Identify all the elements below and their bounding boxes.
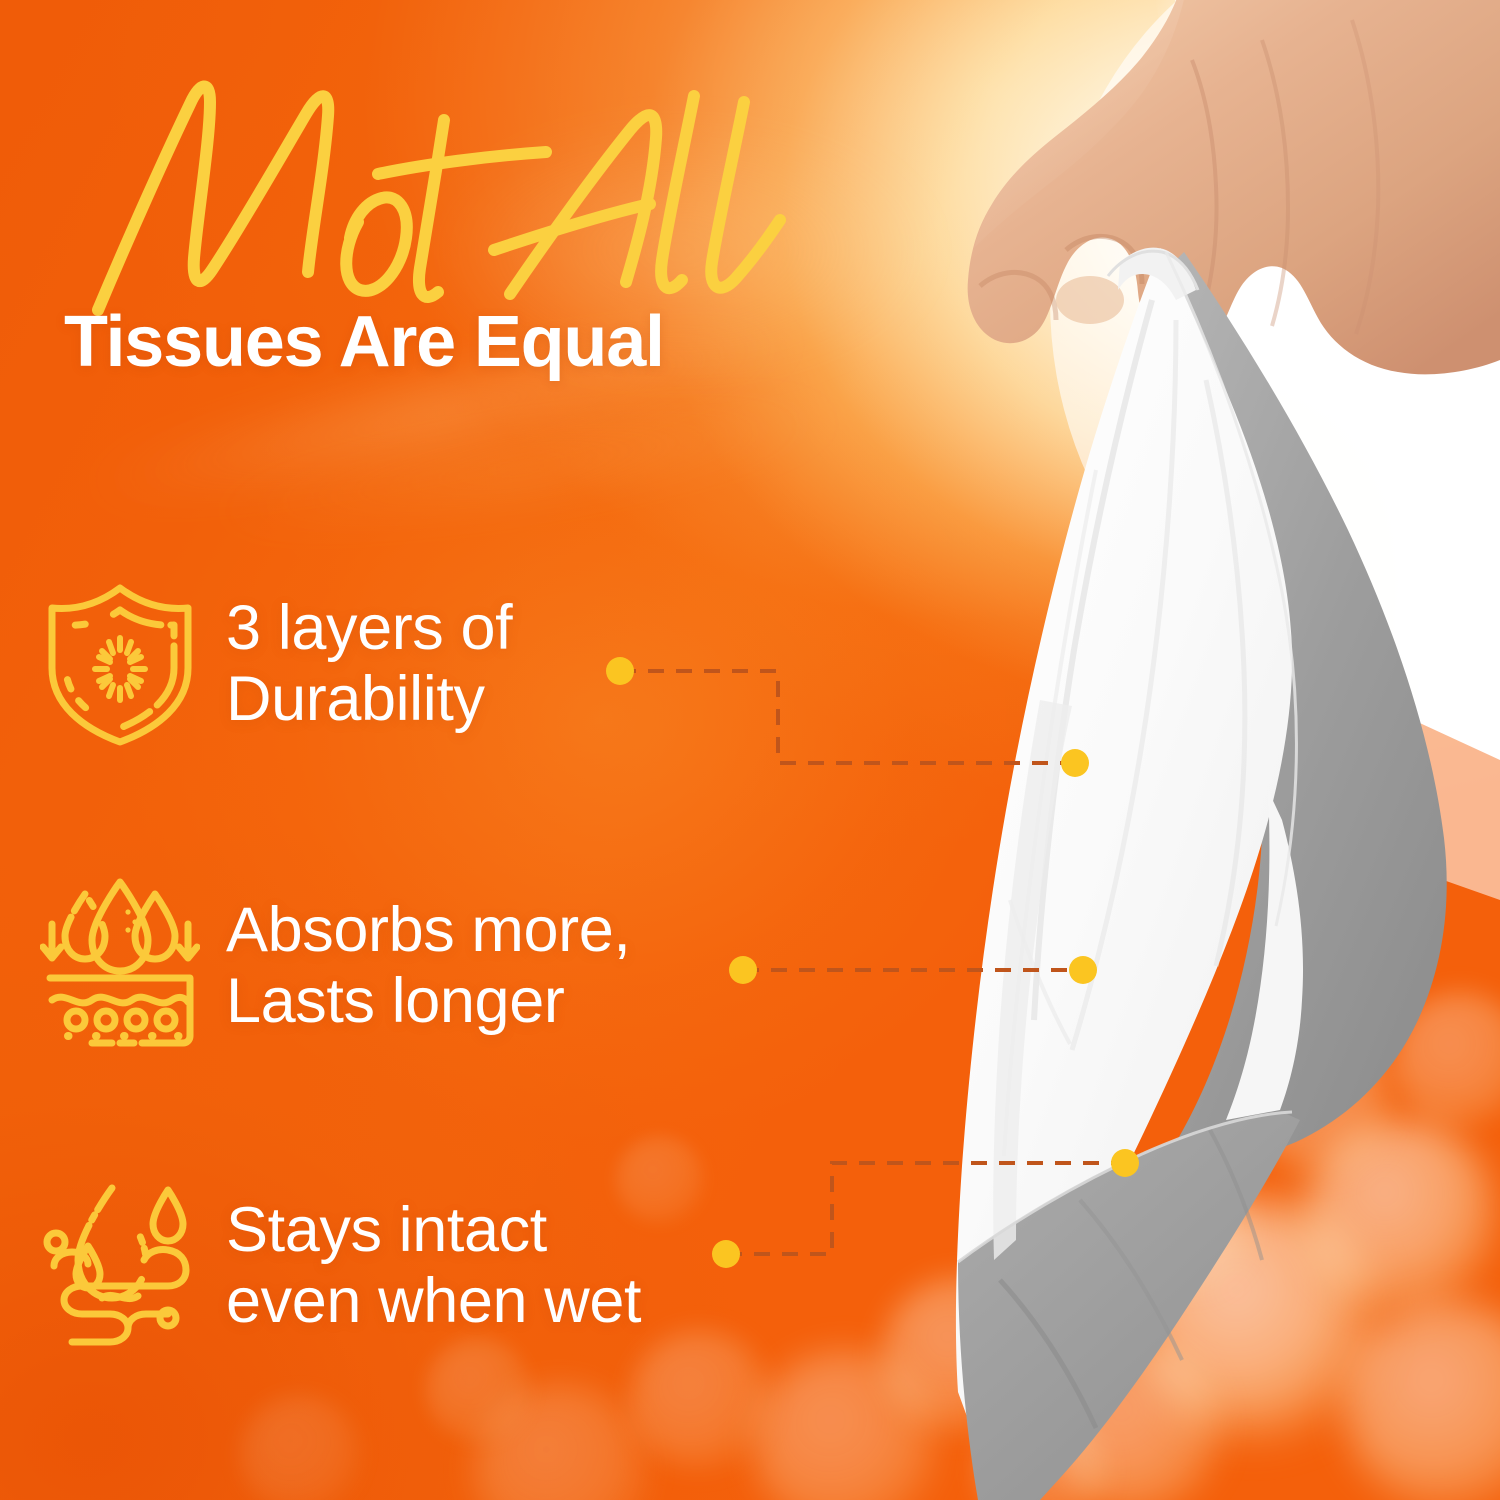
script-letter-l-2 (711, 102, 780, 288)
script-letter-n (98, 86, 328, 310)
script-letter-t (419, 120, 444, 297)
feature-row-durability: 3 layers of Durability (40, 576, 512, 751)
droplet-splash-icon (40, 1178, 200, 1353)
page-title: Tissues Are Equal (64, 306, 664, 378)
shield-burst-icon (40, 576, 200, 751)
script-letter-t-cross (378, 152, 546, 174)
fingertip-1 (1056, 276, 1124, 324)
script-headline (58, 62, 858, 322)
feature-row-wet-strength: Stays intact even when wet (40, 1178, 641, 1353)
feature-label-absorbency: Absorbs more, Lasts longer (226, 895, 630, 1036)
product-feature-graphic: Tissues Are Equal (0, 0, 1500, 1500)
feature-label-durability: 3 layers of Durability (226, 593, 512, 734)
script-letter-o (346, 197, 407, 290)
feature-row-absorbency: Absorbs more, Lasts longer (40, 878, 630, 1053)
script-letter-l-1 (661, 96, 694, 288)
feature-label-wet-strength: Stays intact even when wet (226, 1195, 641, 1336)
droplets-absorb-layers-icon (40, 878, 200, 1053)
